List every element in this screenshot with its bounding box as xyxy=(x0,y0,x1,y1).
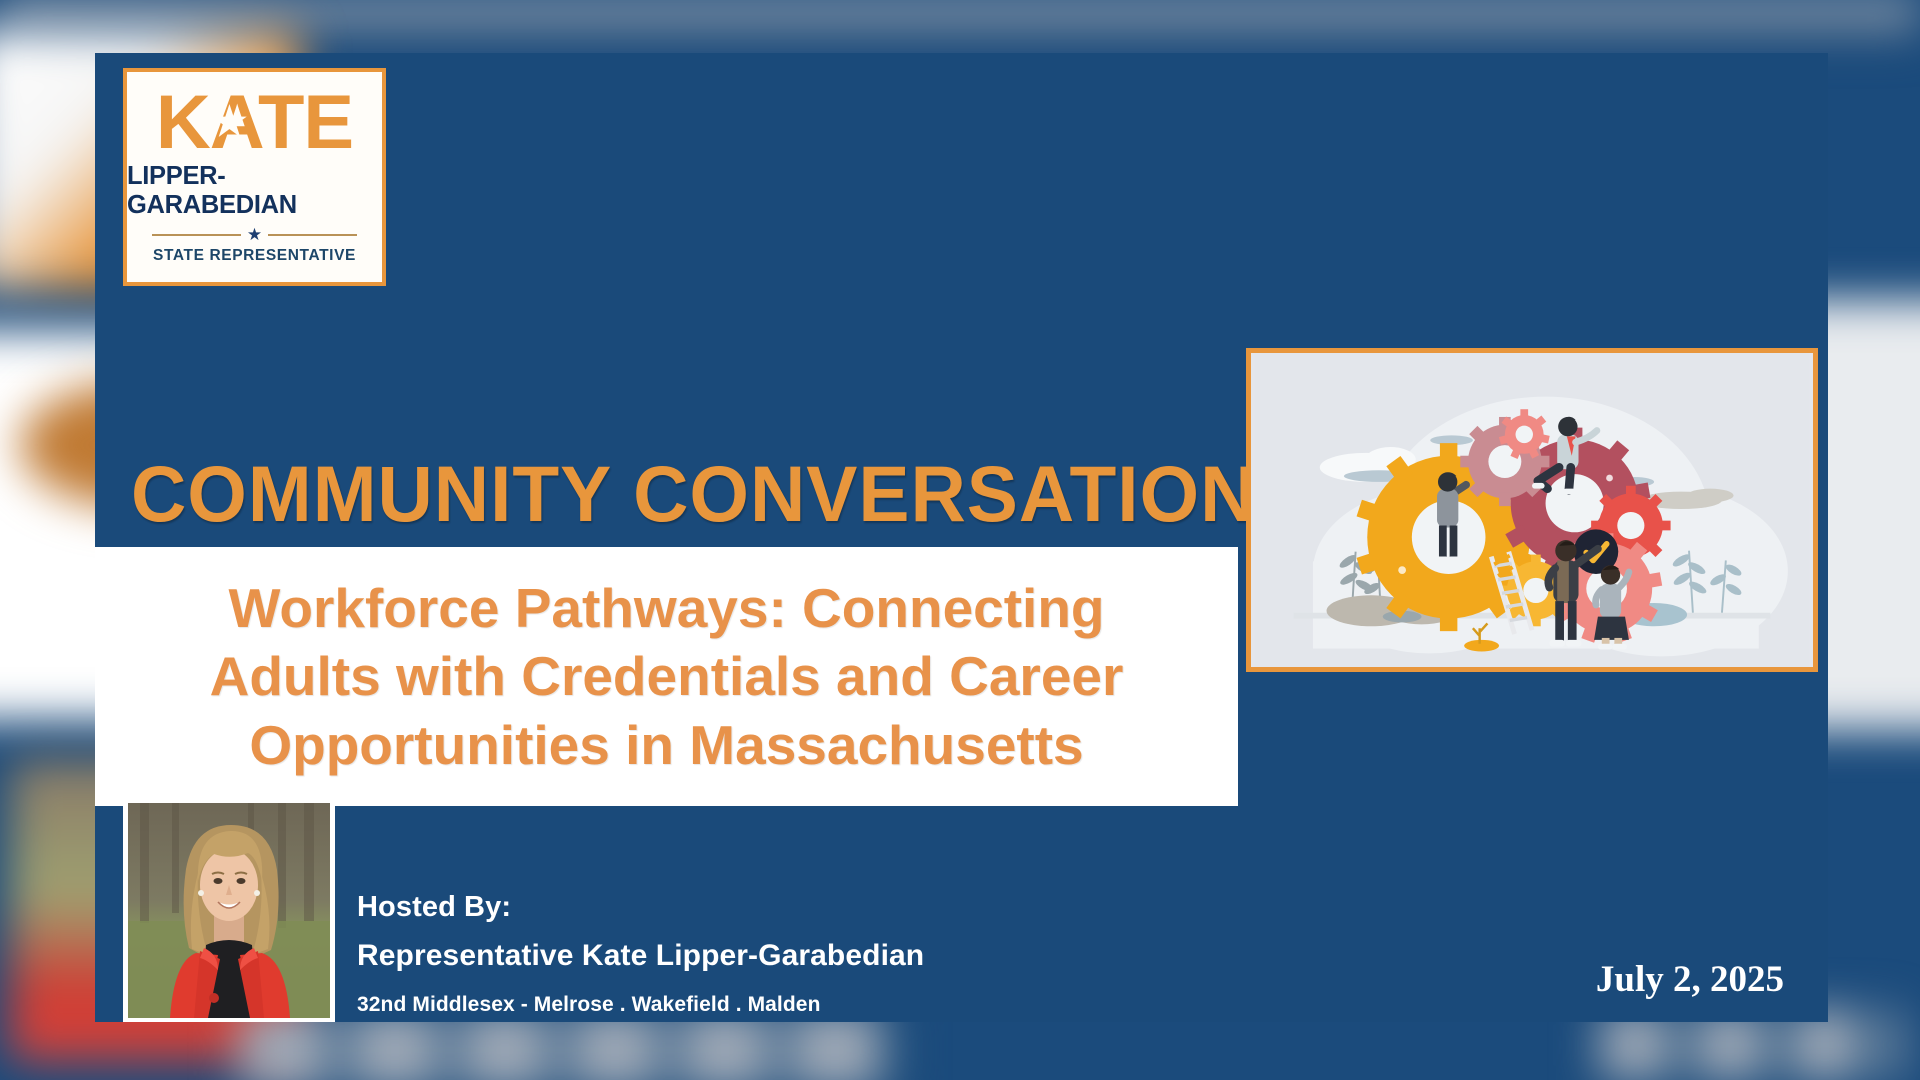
event-date: July 2, 2025 xyxy=(1560,958,1784,1001)
subtitle-line-1: Workforce Pathways: Connecting xyxy=(142,574,1192,642)
event-time: 1:00 – 2:00pm xyxy=(1560,1017,1784,1022)
gears-teamwork-illustration xyxy=(1246,348,1818,672)
headline: COMMUNITY CONVERSATION: xyxy=(131,446,1281,542)
hosted-by-label: Hosted By: xyxy=(357,891,924,924)
avatar xyxy=(123,798,335,1022)
subtitle-text: Workforce Pathways: Connecting Adults wi… xyxy=(142,574,1192,779)
logo-role-label: STATE REPRESENTATIVE xyxy=(153,247,356,265)
logo-divider-line-right xyxy=(268,234,357,236)
host-info: Hosted By: Representative Kate Lipper-Ga… xyxy=(357,891,924,1017)
campaign-logo: KATE ★ LIPPER-GARABEDIAN ★ STATE REPRESE… xyxy=(123,68,386,286)
logo-divider-star-icon: ★ xyxy=(247,226,262,243)
subtitle-line-3: Opportunities in Massachusetts xyxy=(142,711,1192,779)
event-flyer-slide: KATE ★ LIPPER-GARABEDIAN ★ STATE REPRESE… xyxy=(95,53,1828,1022)
event-datetime: July 2, 2025 1:00 – 2:00pm xyxy=(1560,958,1784,1022)
headshot-photo xyxy=(128,803,330,1018)
logo-divider: ★ xyxy=(152,226,357,243)
representative-name: Representative Kate Lipper-Garabedian xyxy=(357,939,924,973)
subtitle-line-2: Adults with Credentials and Career xyxy=(142,642,1192,710)
logo-first-name: KATE ★ xyxy=(156,87,353,159)
logo-divider-line-left xyxy=(152,234,241,236)
logo-last-name: LIPPER-GARABEDIAN xyxy=(127,162,382,220)
logo-first-name-text: KATE xyxy=(156,80,353,165)
subtitle-band: Workforce Pathways: Connecting Adults wi… xyxy=(95,547,1238,806)
district-label: 32nd Middlesex - Melrose . Wakefield . M… xyxy=(357,993,924,1017)
headline-text: COMMUNITY CONVERSATION: xyxy=(131,448,1283,540)
logo-star-icon: ★ xyxy=(210,103,248,141)
